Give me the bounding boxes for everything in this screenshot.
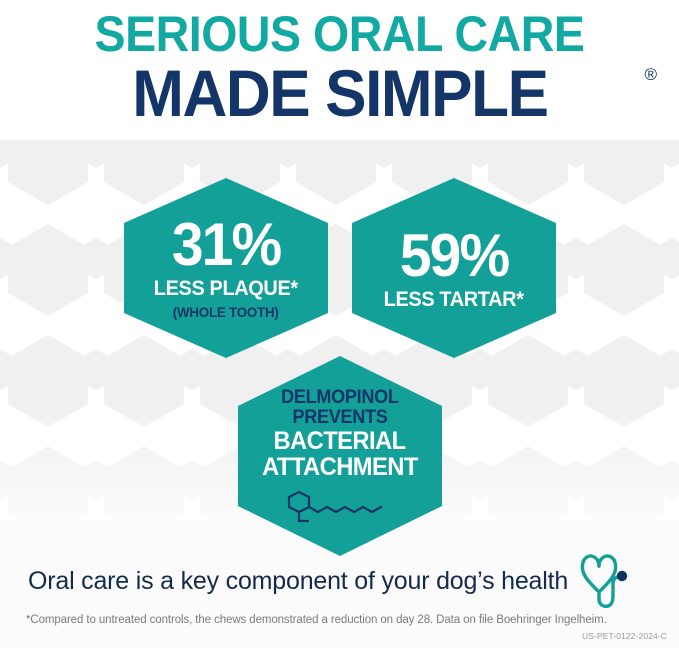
tagline-row: Oral care is a key component of your dog… bbox=[28, 560, 653, 602]
stethoscope-earpiece-dot bbox=[617, 571, 627, 581]
disclaimer-text: *Compared to untreated controls, the che… bbox=[26, 613, 666, 627]
headline-line-2-wrapper: MADE SIMPLE ® bbox=[0, 60, 679, 126]
stat-hexagon-tartar: 59% LESS TARTAR* bbox=[352, 178, 556, 358]
stat-claim-tartar: LESS TARTAR* bbox=[384, 288, 524, 311]
stat-hexagon-plaque: 31% LESS PLAQUE* (WHOLE TOOTH) bbox=[124, 178, 328, 358]
delmopinol-line-4: ATTACHMENT bbox=[262, 454, 418, 480]
material-code: US-PET-0122-2024-C bbox=[582, 631, 667, 641]
tagline-text: Oral care is a key component of your dog… bbox=[28, 566, 568, 596]
infographic-canvas: SERIOUS ORAL CARE MADE SIMPLE ® 31% LESS… bbox=[0, 0, 679, 648]
stat-claim-plaque: LESS PLAQUE* bbox=[154, 277, 298, 300]
stat-percent-tartar: 59% bbox=[400, 226, 508, 286]
delmopinol-line-3: BACTERIAL bbox=[274, 428, 406, 454]
stat-note-plaque: (WHOLE TOOTH) bbox=[173, 303, 279, 322]
delmopinol-line-2: PREVENTS bbox=[292, 408, 387, 428]
heart-stethoscope-icon bbox=[574, 550, 632, 612]
headline-block: SERIOUS ORAL CARE MADE SIMPLE ® bbox=[0, 0, 679, 126]
molecule-icon bbox=[285, 488, 395, 524]
headline-line-1: SERIOUS ORAL CARE bbox=[24, 0, 655, 60]
stat-hexagon-delmopinol: DELMOPINOL PREVENTS BACTERIAL ATTACHMENT bbox=[238, 356, 442, 556]
delmopinol-line-1: DELMOPINOL bbox=[281, 388, 398, 408]
headline-line-2: MADE SIMPLE bbox=[132, 60, 547, 126]
registered-trademark-icon: ® bbox=[644, 66, 657, 83]
stat-percent-plaque: 31% bbox=[172, 215, 280, 275]
